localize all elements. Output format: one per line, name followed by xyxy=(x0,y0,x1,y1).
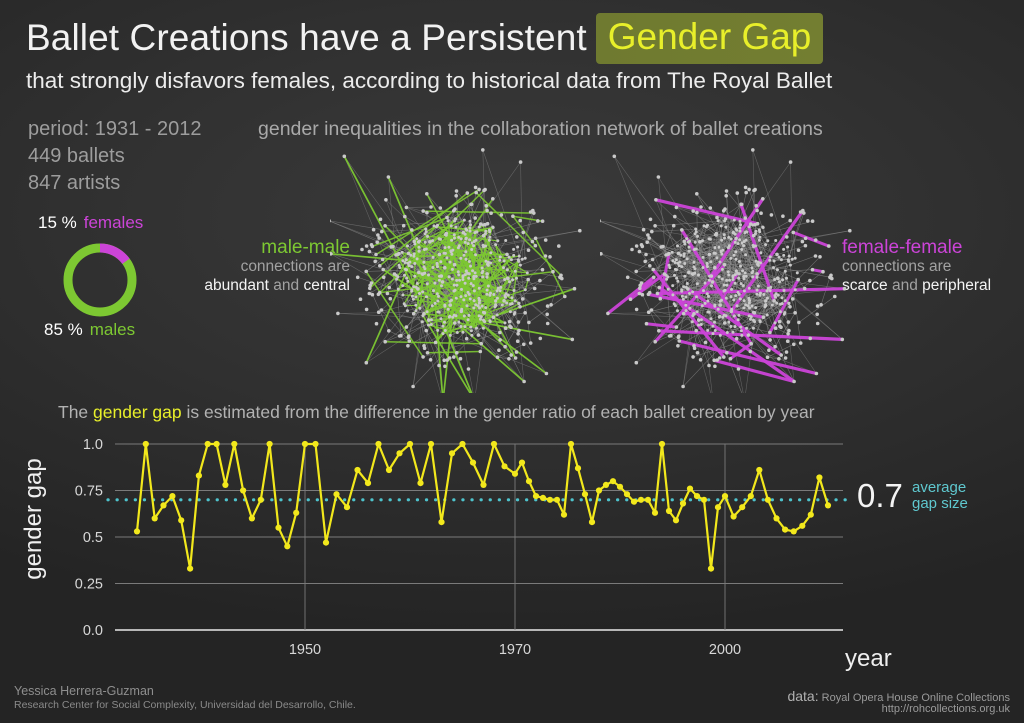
network-node xyxy=(703,282,706,285)
network-node xyxy=(788,305,792,309)
network-node xyxy=(721,249,724,252)
network-node xyxy=(713,321,716,324)
network-node xyxy=(356,276,360,280)
network-node xyxy=(414,304,417,307)
network-node xyxy=(788,255,791,258)
network-node xyxy=(428,240,432,244)
network-node xyxy=(477,188,481,192)
network-node xyxy=(794,288,797,291)
network-node xyxy=(477,297,480,300)
chart-caption-highlight: gender gap xyxy=(93,402,182,422)
network-node xyxy=(827,244,831,248)
male-share-label: 85 %males xyxy=(44,320,135,340)
network-node xyxy=(427,274,430,277)
network-node xyxy=(492,293,495,296)
network-node xyxy=(455,351,459,355)
title-main-text: Ballet Creations have a Persistent xyxy=(26,15,587,61)
network-node xyxy=(439,206,443,210)
chart-data-point xyxy=(519,460,525,466)
network-node xyxy=(755,209,759,213)
network-edge xyxy=(515,270,542,272)
network-node xyxy=(657,329,661,333)
chart-data-point xyxy=(791,528,797,534)
network-node xyxy=(783,311,786,314)
network-node xyxy=(786,339,790,343)
network-node xyxy=(678,339,682,343)
network-node xyxy=(515,350,519,354)
network-node xyxy=(696,282,699,285)
network-node xyxy=(387,286,391,290)
chart-data-point xyxy=(302,441,308,447)
network-node xyxy=(421,209,425,213)
chart-ytick-label: 0.25 xyxy=(75,577,103,593)
chart-data-point xyxy=(407,441,413,447)
network-node xyxy=(491,197,495,201)
network-node xyxy=(677,336,681,340)
network-node xyxy=(546,304,550,308)
network-node xyxy=(515,277,518,280)
network-node xyxy=(715,216,719,220)
network-node xyxy=(509,310,512,313)
network-node xyxy=(418,292,421,295)
network-node xyxy=(518,305,522,309)
network-node xyxy=(803,287,807,291)
network-node xyxy=(668,264,671,267)
network-node xyxy=(732,331,735,334)
network-node xyxy=(432,289,435,292)
network-node xyxy=(675,206,679,210)
network-node xyxy=(739,230,742,233)
network-node xyxy=(396,253,400,257)
network-node xyxy=(748,225,751,228)
network-node xyxy=(641,293,645,297)
network-node xyxy=(411,295,414,298)
network-node xyxy=(375,322,379,326)
network-node xyxy=(719,300,722,303)
average-gap-caption: average gap size xyxy=(912,480,968,512)
network-node xyxy=(784,356,788,360)
network-node xyxy=(740,248,743,251)
chart-data-point xyxy=(312,441,318,447)
network-node xyxy=(709,238,712,241)
network-node xyxy=(436,224,439,227)
network-node xyxy=(378,264,382,268)
chart-ytick-label: 0.75 xyxy=(75,484,103,500)
network-node xyxy=(457,246,460,249)
chart-data-point xyxy=(526,478,532,484)
network-node xyxy=(833,295,837,299)
network-node xyxy=(401,259,404,262)
network-node xyxy=(488,228,491,231)
network-node xyxy=(474,253,477,256)
network-node xyxy=(467,314,470,317)
network-node xyxy=(422,261,425,264)
network-node xyxy=(719,261,722,264)
network-node xyxy=(395,278,398,281)
chart-data-point xyxy=(638,497,644,503)
network-node xyxy=(466,191,470,195)
network-node xyxy=(402,224,406,228)
network-node xyxy=(471,242,474,245)
male-male-title: male-male xyxy=(184,238,350,257)
network-node xyxy=(374,253,378,257)
network-node xyxy=(690,272,693,275)
network-node xyxy=(416,287,420,291)
network-node xyxy=(494,304,497,307)
network-node xyxy=(434,341,438,345)
female-word: females xyxy=(84,213,144,232)
network-node xyxy=(708,253,712,257)
network-node xyxy=(470,329,473,332)
network-node xyxy=(688,307,691,310)
network-node xyxy=(484,230,487,233)
network-node xyxy=(372,228,376,232)
network-node xyxy=(518,219,522,223)
network-node xyxy=(463,219,466,222)
network-node xyxy=(724,194,728,198)
chart-data-point xyxy=(596,487,602,493)
network-node xyxy=(665,278,668,281)
network-node xyxy=(816,322,820,326)
network-node xyxy=(721,268,724,271)
network-node xyxy=(680,228,684,232)
network-node xyxy=(727,321,730,324)
male-word: males xyxy=(90,320,135,339)
network-node xyxy=(487,261,490,264)
network-node xyxy=(464,241,467,244)
network-node xyxy=(729,357,733,361)
network-node xyxy=(717,246,720,249)
network-node xyxy=(449,261,452,264)
network-node xyxy=(405,325,409,329)
network-node xyxy=(444,329,447,332)
network-node xyxy=(789,264,792,267)
network-node xyxy=(778,280,781,283)
network-node xyxy=(442,332,445,335)
network-node xyxy=(697,324,700,327)
network-node xyxy=(802,211,806,215)
network-node xyxy=(383,340,387,344)
network-node xyxy=(424,228,427,231)
network-node xyxy=(725,351,729,355)
network-node xyxy=(426,235,429,238)
network-node xyxy=(768,331,772,335)
network-node xyxy=(468,238,471,241)
network-node xyxy=(503,278,506,281)
network-node xyxy=(675,268,678,271)
network-node xyxy=(496,297,499,300)
network-node xyxy=(693,248,696,251)
chart-data-point xyxy=(196,473,202,479)
network-node xyxy=(381,258,385,262)
network-node xyxy=(521,258,524,261)
network-node xyxy=(489,251,492,254)
network-node xyxy=(799,210,803,214)
network-node xyxy=(779,326,783,330)
network-node xyxy=(545,313,549,317)
network-node xyxy=(749,222,753,226)
network-node xyxy=(793,311,797,315)
chart-series-line xyxy=(137,444,828,569)
network-node xyxy=(426,282,429,285)
network-node xyxy=(502,299,506,303)
chart-data-point xyxy=(739,504,745,510)
chart-data-point xyxy=(603,482,609,488)
network-node xyxy=(527,248,531,252)
network-node xyxy=(741,269,744,272)
network-node xyxy=(544,238,548,242)
network-node xyxy=(693,267,696,270)
network-node xyxy=(676,280,679,283)
network-node xyxy=(713,266,717,270)
stat-ballets: 449 ballets xyxy=(28,145,125,168)
network-node xyxy=(436,265,439,268)
network-node xyxy=(713,305,716,308)
network-edge xyxy=(799,297,835,323)
network-edge xyxy=(330,221,414,254)
network-node xyxy=(522,231,526,235)
network-node xyxy=(420,272,423,275)
network-node xyxy=(811,268,815,272)
network-node xyxy=(549,303,553,307)
network-edge xyxy=(714,360,794,381)
page-title: Ballet Creations have a Persistent Gende… xyxy=(26,12,1006,64)
network-node xyxy=(755,272,759,276)
network-node xyxy=(439,238,442,241)
network-node xyxy=(754,230,757,233)
network-node xyxy=(442,359,446,363)
network-node xyxy=(497,287,500,290)
network-node xyxy=(685,237,688,240)
network-node xyxy=(496,355,500,359)
network-node xyxy=(487,285,490,288)
network-edge xyxy=(490,221,520,238)
network-node xyxy=(718,275,721,278)
network-node xyxy=(761,226,764,229)
chart-data-point xyxy=(143,441,149,447)
chart-data-point xyxy=(582,491,588,497)
network-node xyxy=(359,297,363,301)
network-node xyxy=(401,293,404,296)
network-node xyxy=(469,326,472,329)
network-node xyxy=(755,293,758,296)
network-node xyxy=(516,332,520,336)
network-node xyxy=(642,228,646,232)
network-node xyxy=(682,298,685,301)
chart-data-point xyxy=(799,523,805,529)
network-node xyxy=(638,287,642,291)
network-node xyxy=(814,254,818,258)
network-node xyxy=(748,306,751,309)
network-node xyxy=(377,310,381,314)
network-node xyxy=(401,284,404,287)
network-node xyxy=(478,302,481,305)
network-node xyxy=(448,303,452,307)
chart-data-point xyxy=(501,463,507,469)
network-node xyxy=(819,303,823,307)
network-node xyxy=(843,287,847,291)
network-node xyxy=(469,265,472,268)
network-node xyxy=(482,327,485,330)
network-node xyxy=(758,239,761,242)
network-node xyxy=(438,253,442,257)
network-node xyxy=(753,311,757,315)
male-male-network-graph xyxy=(330,138,595,393)
network-node xyxy=(440,317,443,320)
network-node xyxy=(721,278,724,281)
chart-data-point xyxy=(561,512,567,518)
network-node xyxy=(667,288,670,291)
network-node xyxy=(464,294,467,297)
network-node xyxy=(489,320,492,323)
network-node xyxy=(397,288,400,291)
network-node xyxy=(376,233,380,237)
network-node xyxy=(804,244,808,248)
female-female-strong2: peripheral xyxy=(922,277,991,294)
network-node xyxy=(531,240,535,244)
network-node xyxy=(514,356,518,360)
network-node xyxy=(474,231,477,234)
network-edge xyxy=(682,229,696,230)
network-node xyxy=(750,315,753,318)
network-node xyxy=(751,270,754,273)
network-node xyxy=(411,385,415,389)
network-node xyxy=(691,209,695,213)
chart-data-point xyxy=(375,441,381,447)
network-node xyxy=(751,275,754,278)
network-node xyxy=(687,240,690,243)
network-node xyxy=(527,321,531,325)
network-node xyxy=(489,292,492,295)
network-node xyxy=(503,260,506,263)
network-node xyxy=(729,257,732,260)
average-gap-caption-line2: gap size xyxy=(912,496,968,512)
network-node xyxy=(613,155,617,159)
network-node xyxy=(464,250,467,253)
network-node xyxy=(648,264,652,268)
network-node xyxy=(451,268,454,271)
network-node xyxy=(484,204,488,208)
chart-data-point xyxy=(449,450,455,456)
network-node xyxy=(747,297,750,300)
network-node xyxy=(720,224,723,227)
network-node xyxy=(467,277,470,280)
network-node xyxy=(454,226,457,229)
data-source-url: http://rohcollections.org.uk xyxy=(882,703,1010,715)
network-node xyxy=(524,288,527,291)
network-node xyxy=(504,239,507,242)
network-node xyxy=(469,220,472,223)
network-node xyxy=(460,310,464,314)
network-node xyxy=(630,248,634,252)
network-node xyxy=(744,271,747,274)
network-node xyxy=(717,308,720,311)
network-node xyxy=(734,241,737,244)
network-node xyxy=(391,245,395,249)
network-node xyxy=(779,310,782,313)
network-node xyxy=(744,231,747,234)
network-node xyxy=(647,293,651,297)
network-node xyxy=(460,237,463,240)
network-node xyxy=(697,274,700,277)
network-node xyxy=(736,304,739,307)
network-node xyxy=(459,357,463,361)
network-node xyxy=(432,256,435,259)
network-node xyxy=(522,380,526,384)
network-node xyxy=(764,243,767,246)
network-node xyxy=(467,367,471,371)
network-node xyxy=(676,344,680,348)
network-node xyxy=(457,321,460,324)
network-node xyxy=(680,265,683,268)
chart-data-point xyxy=(708,566,714,572)
network-node xyxy=(453,321,457,325)
network-node xyxy=(459,257,462,260)
network-node xyxy=(651,258,655,262)
network-node xyxy=(462,231,466,235)
network-node xyxy=(792,380,796,384)
network-node xyxy=(489,211,493,215)
network-node xyxy=(773,260,776,263)
network-node xyxy=(714,233,717,236)
network-node xyxy=(529,210,533,214)
network-node xyxy=(405,206,409,210)
network-node xyxy=(375,240,379,244)
network-node xyxy=(518,302,521,305)
network-node xyxy=(759,292,762,295)
network-node xyxy=(506,268,509,271)
network-node xyxy=(546,322,550,326)
network-node xyxy=(456,284,459,287)
chart-caption-post: is estimated from the difference in the … xyxy=(182,402,815,422)
network-node xyxy=(571,338,575,342)
network-node xyxy=(742,306,745,309)
network-node xyxy=(431,304,434,307)
network-node xyxy=(418,250,421,253)
network-node xyxy=(463,254,466,257)
network-node xyxy=(482,189,486,193)
network-node xyxy=(529,341,533,345)
network-node xyxy=(657,286,661,290)
network-node xyxy=(759,251,762,254)
network-node xyxy=(427,319,430,322)
network-node xyxy=(539,337,543,341)
network-node xyxy=(728,279,731,282)
network-node xyxy=(415,237,418,240)
network-node xyxy=(711,280,715,284)
network-node xyxy=(778,320,782,324)
network-node xyxy=(779,353,783,357)
network-node xyxy=(473,299,476,302)
network-node xyxy=(343,155,347,159)
network-node xyxy=(653,224,657,228)
data-source-line: data: Royal Opera House Online Collectio… xyxy=(787,688,1010,704)
network-node xyxy=(671,293,674,296)
network-node xyxy=(651,268,655,272)
network-node xyxy=(672,224,676,228)
network-node xyxy=(498,331,502,335)
network-node xyxy=(468,227,471,230)
network-node xyxy=(801,240,805,244)
network-node xyxy=(479,222,483,226)
network-node xyxy=(650,230,654,234)
network-node xyxy=(461,275,464,278)
network-node xyxy=(406,309,409,312)
network-node xyxy=(467,291,470,294)
chart-data-point xyxy=(694,493,700,499)
network-node xyxy=(727,246,730,249)
network-edge xyxy=(791,162,793,259)
